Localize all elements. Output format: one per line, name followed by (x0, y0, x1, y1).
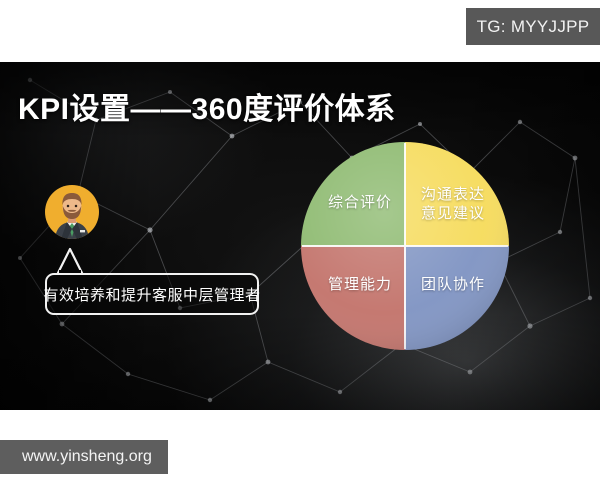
slide-image: KPI设置——360度评价体系 (0, 62, 600, 410)
pie-label-comprehensive: 综合评价 (315, 194, 405, 213)
avatar (45, 185, 99, 239)
pie-chart-svg (297, 138, 513, 354)
callout-text: 有效培养和提升客服中层管理者 (44, 284, 261, 305)
callout-box: 有效培养和提升客服中层管理者 (45, 273, 259, 315)
pie-label-communication: 沟通表达 意见建议 (407, 186, 499, 224)
top-watermark-badge: TG: MYYJJPP (466, 8, 600, 45)
top-watermark-text: TG: MYYJJPP (477, 17, 590, 37)
pie-chart: 综合评价 沟通表达 意见建议 管理能力 团队协作 (297, 138, 513, 354)
pie-label-management: 管理能力 (315, 276, 405, 295)
bottom-watermark-badge: www.yinsheng.org (0, 440, 168, 474)
bottom-watermark-text: www.yinsheng.org (22, 448, 152, 466)
pie-label-teamwork: 团队协作 (407, 276, 499, 295)
bearded-businessman-avatar-icon (45, 185, 99, 239)
page-title: KPI设置——360度评价体系 (18, 84, 396, 128)
